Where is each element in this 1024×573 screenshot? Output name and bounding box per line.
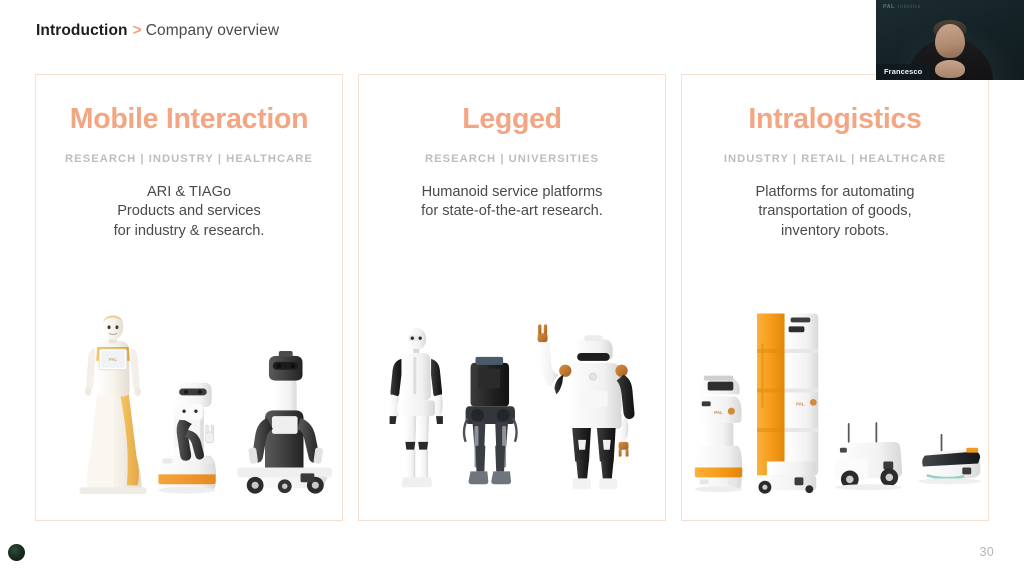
participant-name-label: Francesco (876, 64, 929, 80)
card-mobile-interaction[interactable]: Mobile Interaction RESEARCH | INDUSTRY |… (35, 74, 343, 521)
breadcrumb: Introduction>Company overview (36, 22, 279, 40)
watermark-subtext: robotics (898, 4, 921, 10)
card-title: Mobile Interaction (70, 105, 308, 134)
mobile-interaction-robots-image: PAL (36, 289, 342, 504)
card-description: Humanoid service platforms for state-of-… (407, 183, 617, 223)
card-title: Legged (462, 105, 562, 134)
product-card-grid: Mobile Interaction RESEARCH | INDUSTRY |… (35, 74, 989, 521)
presentation-slide: Introduction>Company overview Mobile Int… (0, 0, 1024, 573)
card-description-line: transportation of goods, (756, 202, 915, 222)
breadcrumb-parent[interactable]: Introduction (36, 22, 128, 39)
corner-dot-indicator (8, 544, 25, 561)
card-description-line: for industry & research. (114, 222, 265, 242)
intralogistics-robots-image: PAL (682, 289, 988, 504)
card-tags: INDUSTRY | RETAIL | HEALTHCARE (724, 153, 946, 165)
card-description-line: ARI & TIAGo (114, 183, 265, 203)
svg-text:PAL: PAL (109, 357, 117, 362)
card-intralogistics[interactable]: Intralogistics INDUSTRY | RETAIL | HEALT… (681, 74, 989, 521)
card-description-line: Humanoid service platforms (421, 183, 603, 203)
card-description: Platforms for automating transportation … (742, 183, 929, 243)
page-number: 30 (979, 545, 994, 559)
breadcrumb-separator-icon: > (133, 22, 142, 39)
legged-robots-image (359, 289, 665, 504)
pal-robotics-watermark: PALrobotics (883, 4, 921, 10)
watermark-text: PAL (883, 4, 895, 10)
card-description-line: for state-of-the-art research. (421, 202, 603, 222)
card-description-line: Platforms for automating (756, 183, 915, 203)
svg-text:PAL: PAL (714, 410, 723, 415)
card-tags: RESEARCH | INDUSTRY | HEALTHCARE (65, 153, 313, 165)
card-description-line: inventory robots. (756, 222, 915, 242)
breadcrumb-current: Company overview (146, 22, 279, 39)
presenter-head (935, 24, 965, 58)
presenter-hands (935, 60, 965, 78)
card-tags: RESEARCH | UNIVERSITIES (425, 153, 599, 165)
svg-text:PAL: PAL (796, 401, 805, 406)
presenter-video-tile[interactable]: PALrobotics Francesco (876, 0, 1024, 80)
card-title: Intralogistics (748, 105, 921, 134)
card-description: ARI & TIAGo Products and services for in… (100, 183, 279, 243)
card-description-line: Products and services (114, 202, 265, 222)
card-legged[interactable]: Legged RESEARCH | UNIVERSITIES Humanoid … (358, 74, 666, 521)
